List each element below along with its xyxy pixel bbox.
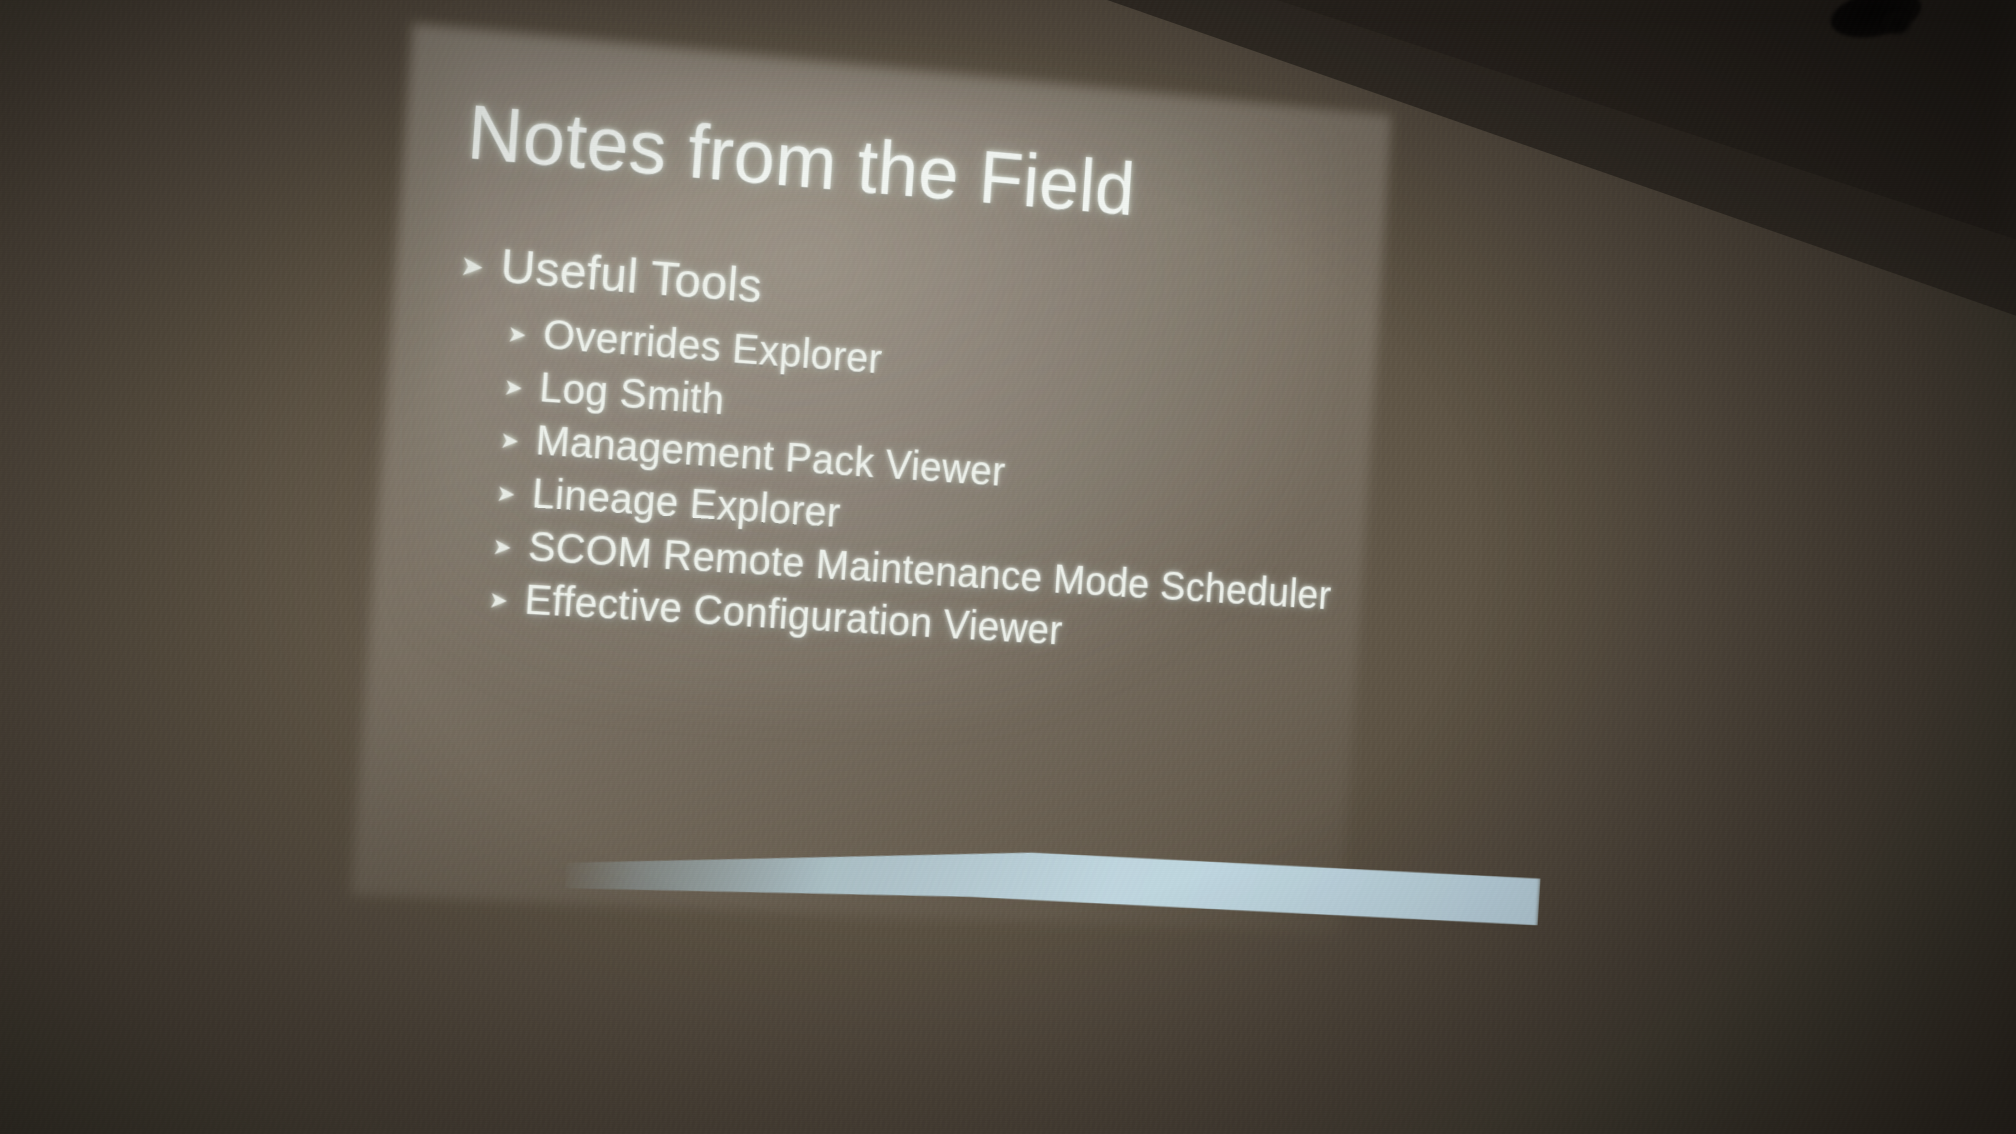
screenshot-stage: Notes from the Field ➤ Useful Tools ➤ Ov… xyxy=(0,0,2016,1134)
arrow-bullet-icon: ➤ xyxy=(496,482,517,506)
slide-title: Notes from the Field xyxy=(465,87,1138,232)
arrow-bullet-icon: ➤ xyxy=(507,323,528,347)
ceiling-fixture-secondary-icon xyxy=(1884,12,1910,34)
list-item-label: Useful Tools xyxy=(499,236,764,314)
list-item-label: Log Smith xyxy=(538,365,726,425)
arrow-bullet-icon: ➤ xyxy=(503,376,524,400)
arrow-bullet-icon: ➤ xyxy=(492,535,513,559)
presentation-slide: Notes from the Field ➤ Useful Tools ➤ Ov… xyxy=(351,23,1392,934)
arrow-bullet-icon: ➤ xyxy=(459,252,484,282)
slide-bullet-list: ➤ Useful Tools ➤ Overrides Explorer ➤ Lo… xyxy=(435,233,1344,675)
projected-slide-area: Notes from the Field ➤ Useful Tools ➤ Ov… xyxy=(351,23,1392,934)
arrow-bullet-icon: ➤ xyxy=(499,429,520,453)
arrow-bullet-icon: ➤ xyxy=(488,589,509,613)
